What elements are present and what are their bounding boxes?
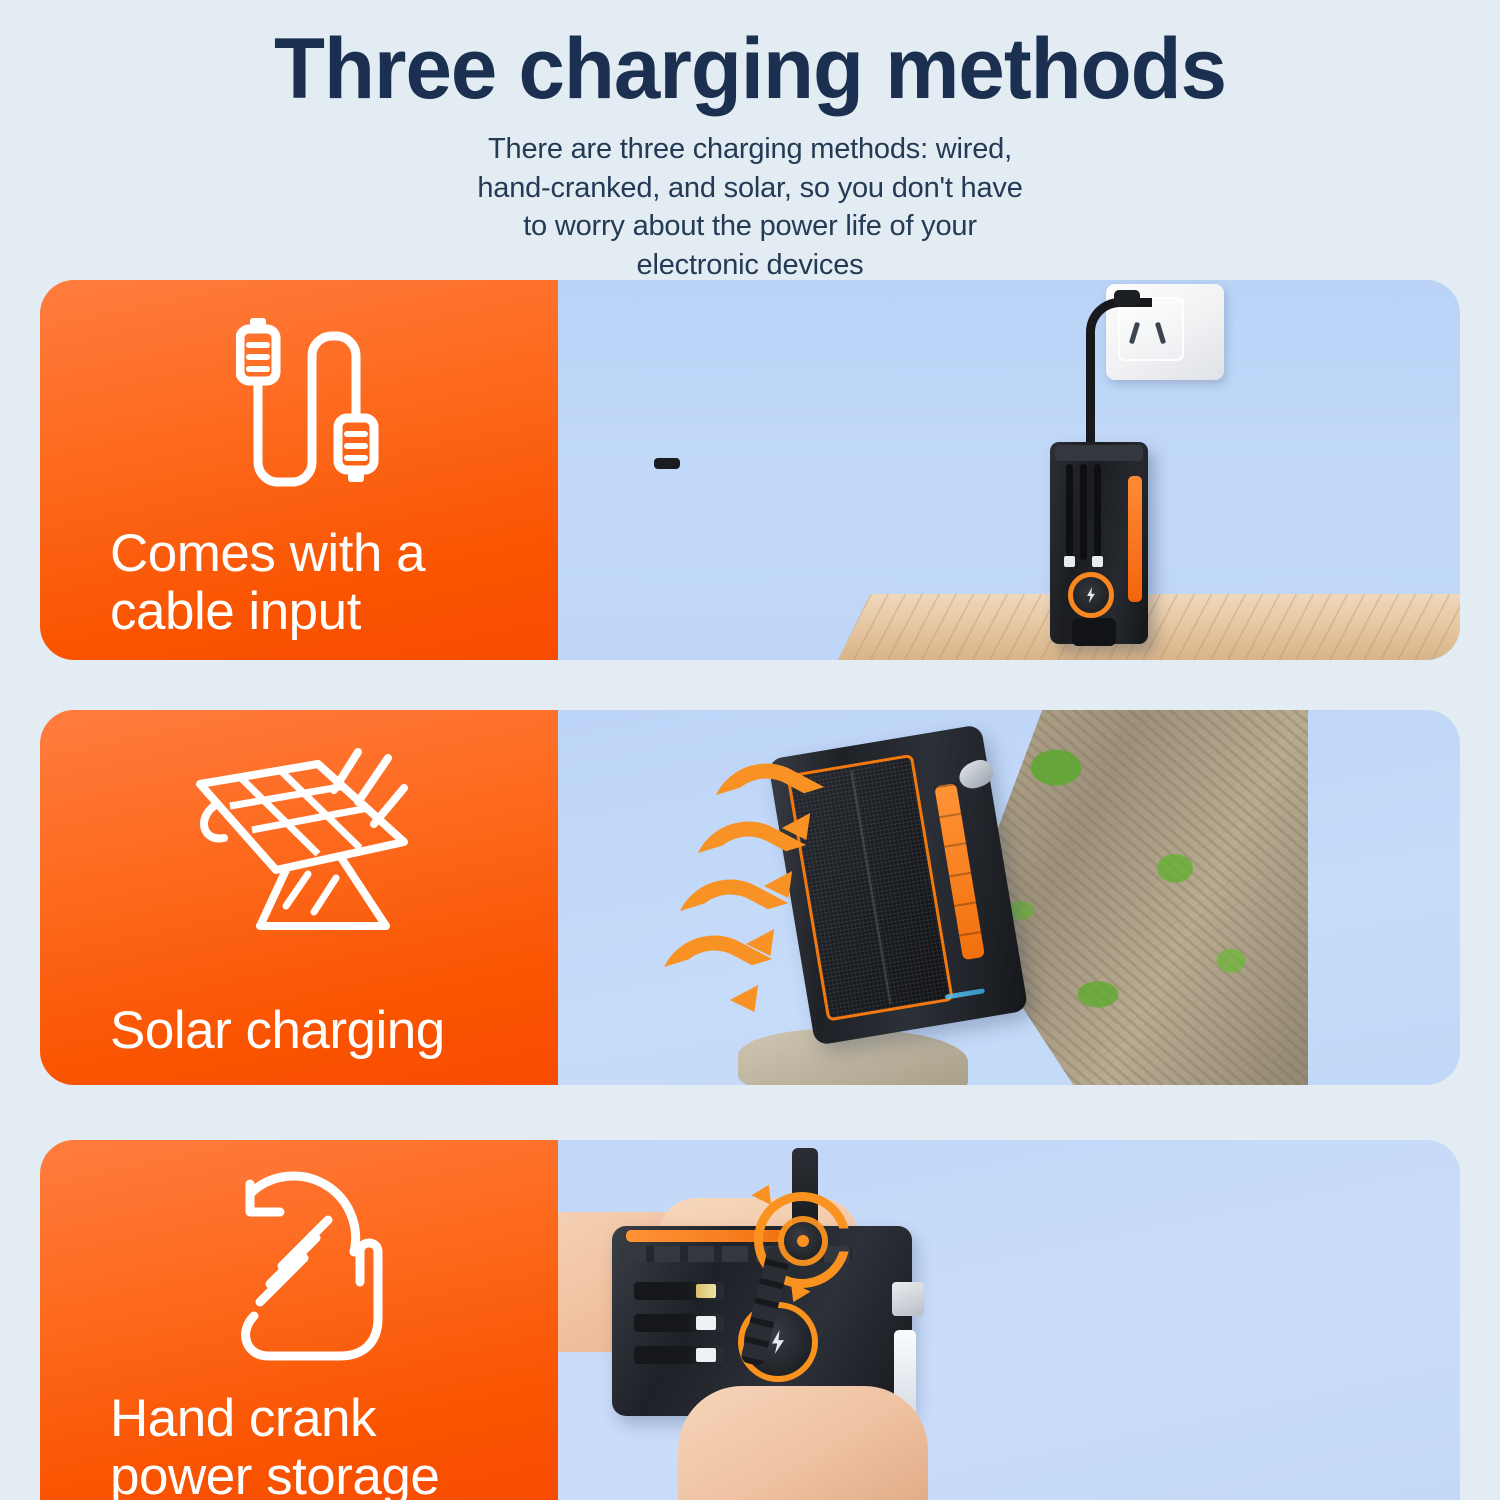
cable-card-label: Comes with a cable input [110,525,544,641]
power-bank-wall-outlet-photo [558,280,1460,660]
cable-plug [1114,290,1140,306]
solar-card-label-line-1: Solar charging [110,1002,544,1060]
page-subtitle: There are three charging methods: wired,… [0,130,1500,285]
solar-card-label: Solar charging [110,1002,544,1060]
charging-cable [1086,298,1152,456]
cable-card-label-panel: Comes with a cable input [40,280,558,660]
subtitle-line-2: hand-cranked, and solar, so you don't ha… [0,169,1500,208]
usb-cable-icon [236,314,386,519]
hand-crank-card-label-line-1: Hand crank [110,1390,544,1448]
hand-crank-card-label-panel: Hand crank power storage [40,1140,558,1500]
page-header: Three charging methods There are three c… [0,0,1500,285]
hand-crank-card-label: Hand crank power storage [110,1390,544,1500]
power-bank-device [1050,442,1148,644]
charging-method-card-cable: Comes with a cable input [40,280,1460,660]
device-builtin-cables [1064,464,1108,560]
device-base [1072,618,1116,646]
device-top-cap [1055,445,1143,461]
right-hand [678,1386,928,1500]
charging-method-card-hand-crank: Hand crank power storage [40,1140,1460,1500]
solar-card-label-panel: Solar charging [40,710,558,1085]
crank-hub [784,1222,822,1260]
hand-crank-card-label-line-2: power storage [110,1448,544,1500]
hand-crank-icon [236,1166,396,1371]
wooden-floor [838,594,1460,660]
power-bank-solar-rock-photo [558,710,1460,1085]
subtitle-line-3: to worry about the power life of your [0,207,1500,246]
socket-slot-right [1155,322,1166,345]
device-orange-side-strip [1128,476,1142,602]
device-power-button [1068,572,1114,618]
cable-card-label-line-2: cable input [110,583,544,641]
page-title: Three charging methods [23,26,1478,114]
solar-panel-icon [190,746,420,941]
device-wrist-strap [654,458,680,469]
device-builtin-cables [634,1282,724,1382]
subtitle-line-1: There are three charging methods: wired, [0,130,1500,169]
device-usb-ports [892,1282,924,1316]
charging-method-card-solar: Solar charging [40,710,1460,1085]
power-bank-hand-crank-photo [558,1140,1460,1500]
cable-card-label-line-1: Comes with a [110,525,544,583]
solar-absorption-arrows [698,762,838,1012]
